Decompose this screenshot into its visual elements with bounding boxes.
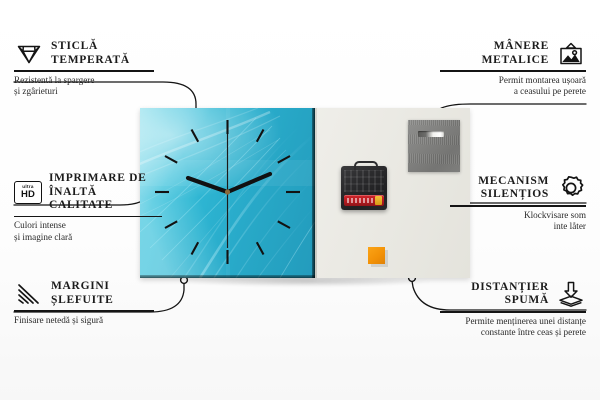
hour-mark-8 <box>165 221 177 228</box>
callout-title: MARGINI ȘLEFUITE <box>51 280 113 307</box>
callout-tempered-glass: STICLĂ TEMPERATĂ Rezistentă la spargere … <box>14 40 154 98</box>
callout-subtitle: Permit montarea ușoară a ceasului pe per… <box>440 75 586 98</box>
callout-subtitle: Rezistentă la spargere și zgârieturi <box>14 75 154 98</box>
callout-metal-handles: MÂNERE METALICE Permit montarea ușoară a… <box>440 40 586 98</box>
callout-title: IMPRIMARE DE ÎNALTĂ CALITATE <box>49 172 162 213</box>
diamond-icon <box>14 42 44 66</box>
callout-rule <box>14 310 154 312</box>
quartz-mechanism-box <box>341 166 387 210</box>
callout-subtitle: Culori intense și imagine clară <box>14 220 162 243</box>
foam-spacer <box>368 247 385 264</box>
callout-header: MARGINI ȘLEFUITE <box>14 280 154 307</box>
callout-rule <box>440 311 586 313</box>
callout-header: DISTANȚIER SPUMĂ <box>440 280 586 308</box>
panel-seam <box>315 108 317 278</box>
hanging-picture-frame-icon <box>556 41 586 67</box>
mechanism-texture <box>344 170 384 192</box>
hour-mark-1 <box>257 130 264 142</box>
battery-terminal <box>375 196 382 205</box>
callout-title: MECANISM SILENȚIOS <box>478 175 549 202</box>
battery <box>344 195 384 206</box>
hour-mark-10 <box>165 156 177 163</box>
clock-center-cap <box>225 189 230 194</box>
diagonal-stripes-icon <box>14 282 44 306</box>
clock-hand-minute <box>228 174 271 192</box>
callout-title: MÂNERE METALICE <box>482 40 549 67</box>
callout-rule <box>14 70 154 72</box>
callout-header: STICLĂ TEMPERATĂ <box>14 40 154 67</box>
callout-silent-mechanism: MECANISM SILENȚIOS Klockvisare som inte … <box>450 174 586 233</box>
hour-mark-4 <box>278 221 290 228</box>
callout-header: MECANISM SILENȚIOS <box>450 174 586 202</box>
ultra-hd-main-label: HD <box>21 190 35 200</box>
callout-foam-spacer: DISTANȚIER SPUMĂ Permite menținerea unei… <box>440 280 586 339</box>
gear-icon <box>556 174 586 202</box>
callout-header: MÂNERE METALICE <box>440 40 586 67</box>
product-image <box>140 108 470 283</box>
hour-mark-2 <box>278 156 290 163</box>
callout-title: DISTANȚIER SPUMĂ <box>471 281 549 308</box>
callout-rule <box>450 205 586 207</box>
clock-face <box>140 108 315 278</box>
clock-front-panel <box>140 108 315 278</box>
callout-subtitle: Klockvisare som inte låter <box>450 210 586 233</box>
ultra-hd-badge-icon: ultra HD <box>14 181 42 204</box>
clock-back-panel <box>315 108 470 278</box>
callout-polished-edges: MARGINI ȘLEFUITE Finisare netedă și sigu… <box>14 280 154 326</box>
callout-rule <box>440 70 586 72</box>
front-panel-bottom-edge <box>140 275 315 278</box>
arrow-down-onto-layers-icon <box>556 280 586 308</box>
battery-label <box>347 198 373 203</box>
metal-hanger-plate <box>408 120 460 172</box>
callout-print-quality: ultra HD IMPRIMARE DE ÎNALTĂ CALITATE Cu… <box>14 172 162 243</box>
callout-rule <box>14 216 162 218</box>
callout-title: STICLĂ TEMPERATĂ <box>51 40 130 67</box>
callout-subtitle: Finisare netedă și sigură <box>14 315 154 327</box>
hour-mark-5 <box>257 242 264 254</box>
infographic-canvas: STICLĂ TEMPERATĂ Rezistentă la spargere … <box>0 0 600 400</box>
callout-header: ultra HD IMPRIMARE DE ÎNALTĂ CALITATE <box>14 172 162 213</box>
hour-mark-7 <box>192 242 199 254</box>
hanger-slot <box>418 131 444 137</box>
hour-mark-11 <box>192 130 199 142</box>
callout-subtitle: Permite menținerea unei distanțe constan… <box>440 316 586 339</box>
clock-hand-hour <box>188 178 228 192</box>
